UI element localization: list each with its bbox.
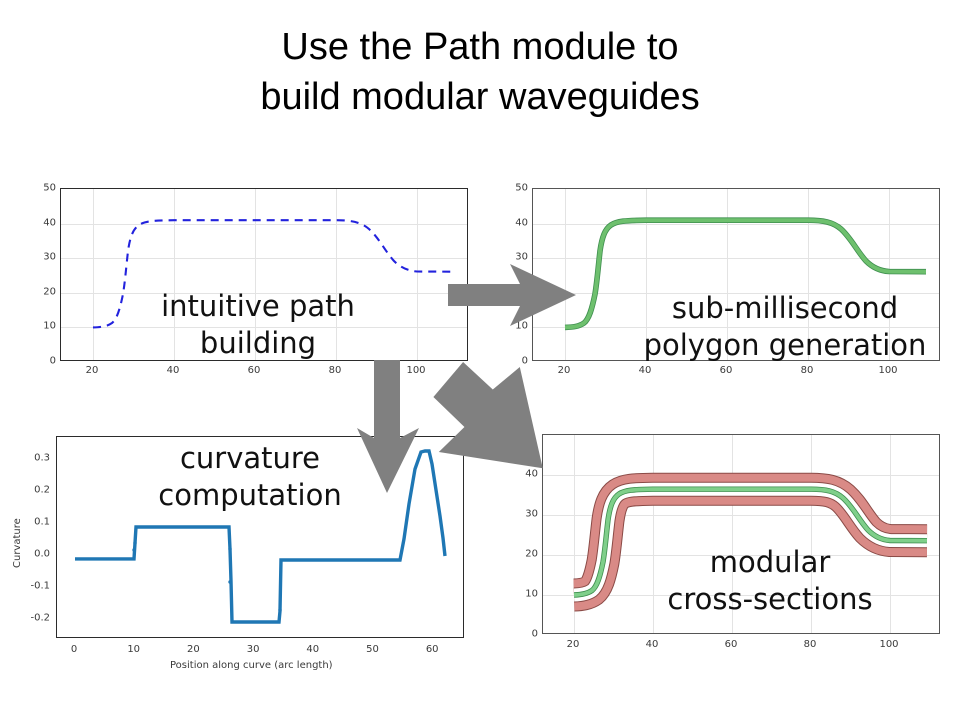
y-tick-label: 0.3 <box>16 453 50 464</box>
x-tick-label: 80 <box>804 639 817 650</box>
page-title: Use the Path module to build modular wav… <box>0 22 960 122</box>
caption-line-2: cross-sections <box>620 581 920 618</box>
caption-line-2: building <box>118 325 398 362</box>
x-tick-label: 40 <box>639 365 652 376</box>
caption-polygon-generation: sub-millisecond polygon generation <box>630 290 940 364</box>
caption-line-2: polygon generation <box>630 327 940 364</box>
x-axis-label-curvature: Position along curve (arc length) <box>170 660 333 671</box>
caption-line-1: modular <box>620 544 920 581</box>
y-tick-label: 0.2 <box>16 485 50 496</box>
y-tick-label: 50 <box>504 183 528 194</box>
x-tick-label: 10 <box>127 644 140 655</box>
y-tick-label: 50 <box>32 183 56 194</box>
y-tick-label: 40 <box>32 217 56 228</box>
path-to-curvature-arrow <box>355 360 421 495</box>
y-tick-label: -0.1 <box>16 581 50 592</box>
slide-root: Use the Path module to build modular wav… <box>0 0 960 720</box>
x-tick-label: 20 <box>86 365 99 376</box>
caption-line-1: sub-millisecond <box>630 290 940 327</box>
y-tick-label: 0 <box>32 356 56 367</box>
x-tick-label: 60 <box>426 644 439 655</box>
y-tick-label: -0.2 <box>16 613 50 624</box>
title-line-1: Use the Path module to <box>0 22 960 72</box>
x-tick-label: 60 <box>248 365 261 376</box>
x-tick-label: 20 <box>567 639 580 650</box>
path-to-polygon-arrow <box>448 262 578 328</box>
x-tick-label: 100 <box>878 365 897 376</box>
caption-line-2: computation <box>110 477 390 514</box>
y-tick-label: 10 <box>512 589 538 600</box>
caption-line-1: intuitive path <box>118 288 398 325</box>
y-tick-label: 30 <box>512 509 538 520</box>
x-tick-label: 20 <box>187 644 200 655</box>
y-tick-label: 0 <box>512 629 538 640</box>
x-tick-label: 60 <box>720 365 733 376</box>
y-tick-label: 10 <box>32 321 56 332</box>
caption-curvature-computation: curvature computation <box>110 440 390 514</box>
x-tick-label: 40 <box>167 365 180 376</box>
x-tick-label: 50 <box>366 644 379 655</box>
x-tick-label: 80 <box>329 365 342 376</box>
x-tick-label: 40 <box>646 639 659 650</box>
x-tick-label: 60 <box>725 639 738 650</box>
x-tick-label: 80 <box>801 365 814 376</box>
x-tick-label: 40 <box>306 644 319 655</box>
x-tick-label: 0 <box>71 644 77 655</box>
y-tick-label: 30 <box>32 252 56 263</box>
title-line-2: build modular waveguides <box>0 72 960 122</box>
x-tick-label: 30 <box>247 644 260 655</box>
caption-intuitive-path-building: intuitive path building <box>118 288 398 362</box>
path-to-crosssection-arrow <box>430 360 580 482</box>
y-tick-label: 20 <box>32 286 56 297</box>
caption-cross-sections: modular cross-sections <box>620 544 920 618</box>
y-axis-label-curvature: Curvature <box>12 518 23 568</box>
y-tick-label: 20 <box>512 549 538 560</box>
caption-line-1: curvature <box>110 440 390 477</box>
y-tick-label: 40 <box>504 217 528 228</box>
x-tick-label: 100 <box>879 639 898 650</box>
